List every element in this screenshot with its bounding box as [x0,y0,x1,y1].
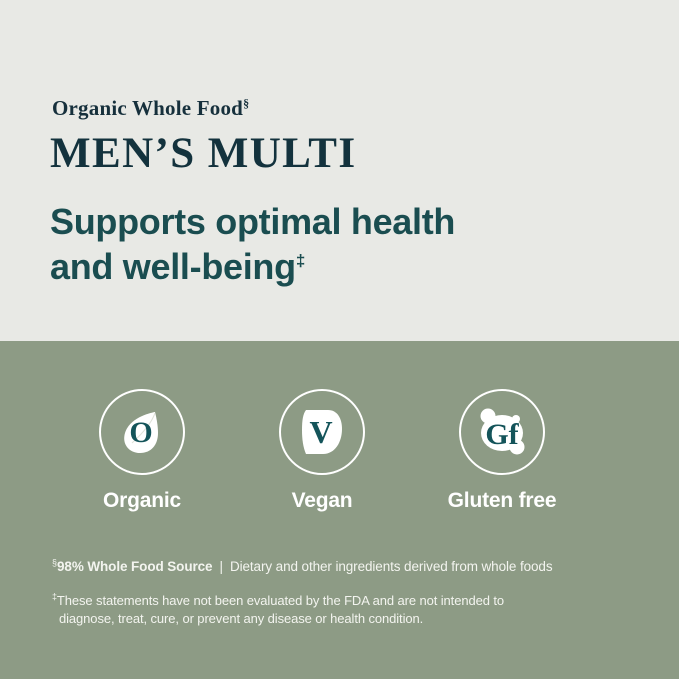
footnote-whole-food-source: §98% Whole Food Source|Dietary and other… [52,558,642,576]
badge-vegan: V Vegan [232,389,412,513]
badge-vegan-label: Vegan [292,489,353,513]
footnote-fda-line-1: These statements have not been evaluated… [57,593,504,608]
badge-gluten-free-label: Gluten free [448,489,557,513]
headline-line-2: and well-being [50,246,296,287]
footnotes: §98% Whole Food Source|Dietary and other… [52,558,642,629]
product-marketing-panel: Organic Whole Food§ MEN’S MULTI Supports… [0,0,679,679]
badge-gluten-free-circle: Gf [459,389,545,475]
vegan-letter-v: V [309,414,332,450]
badge-organic-circle: O [99,389,185,475]
gluten-free-letters-gf: Gf [485,418,519,451]
footnote-fda-disclaimer: ‡These statements have not been evaluate… [52,592,597,630]
badge-organic-label: Organic [103,489,181,513]
bottom-sage-section: O Organic V Vegan [0,341,679,679]
headline: Supports optimal health and well-being‡ [50,200,455,289]
footnote-source-description: Dietary and other ingredients derived fr… [230,559,553,574]
certification-badge-row: O Organic V Vegan [52,389,592,513]
footnote-fda-line-2: diagnose, treat, cure, or prevent any di… [52,610,597,629]
organic-droplet-leaf-icon: O [112,402,172,462]
organic-letter-o: O [129,416,152,449]
page-title: MEN’S MULTI [50,129,357,178]
badge-organic: O Organic [52,389,232,513]
double-dagger-symbol-superscript: ‡ [296,251,305,270]
badge-gluten-free: Gf Gluten free [412,389,592,513]
footnote-separator: | [212,559,230,574]
footnote-source-strong: 98% Whole Food Source [57,559,212,574]
headline-line-1: Supports optimal health [50,201,455,242]
badge-vegan-circle: V [279,389,365,475]
product-eyebrow: Organic Whole Food§ [52,96,249,121]
product-eyebrow-text: Organic Whole Food [52,96,243,120]
top-light-section: Organic Whole Food§ MEN’S MULTI Supports… [0,0,679,341]
vegan-leaf-icon: V [292,402,352,462]
section-symbol-superscript: § [243,96,249,110]
gluten-free-grain-icon: Gf [471,402,533,462]
